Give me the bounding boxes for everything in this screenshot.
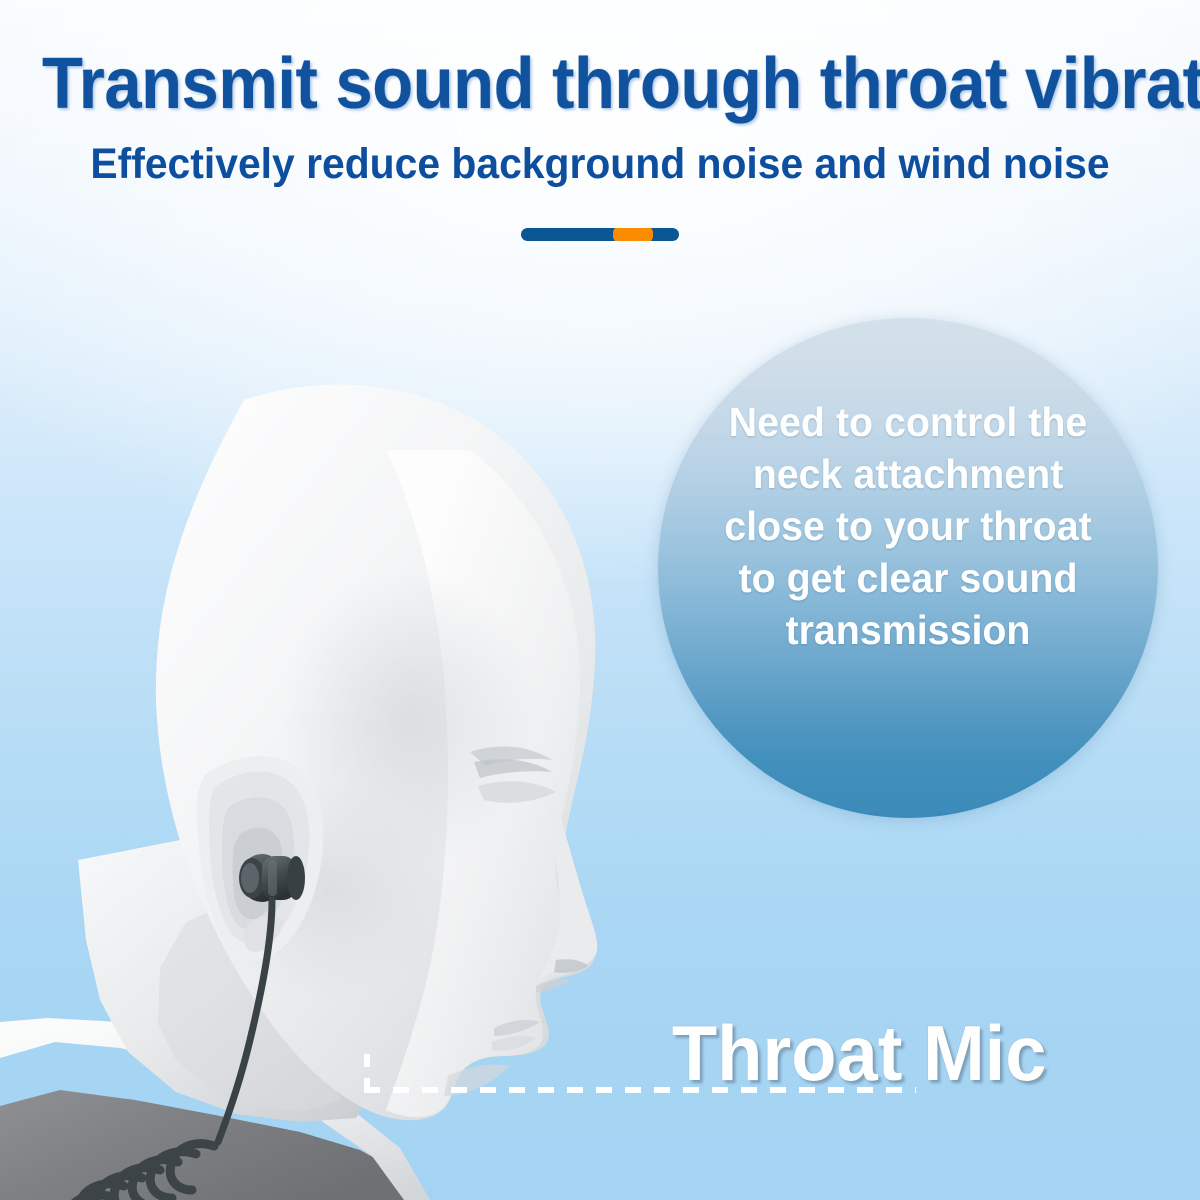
product-name-label: Throat Mic: [672, 1014, 1047, 1092]
page-title: Transmit sound through throat vibrate: [42, 48, 1158, 120]
instruction-callout-text: Need to control the neck attachment clos…: [687, 396, 1129, 656]
callout-line: neck attachment: [687, 448, 1129, 500]
product-banner: Transmit sound through throat vibrate Ef…: [0, 0, 1200, 1200]
mannequin-product-illustration: [0, 300, 700, 1200]
divider-bar: [521, 228, 679, 241]
divider-accent-segment: [613, 228, 653, 241]
callout-line: transmission: [687, 604, 1129, 656]
callout-line: close to your throat: [687, 500, 1129, 552]
callout-line: Need to control the: [687, 396, 1129, 448]
page-subtitle: Effectively reduce background noise and …: [30, 143, 1170, 186]
instruction-callout-circle: Need to control the neck attachment clos…: [658, 318, 1158, 818]
callout-line: to get clear sound: [687, 552, 1129, 604]
